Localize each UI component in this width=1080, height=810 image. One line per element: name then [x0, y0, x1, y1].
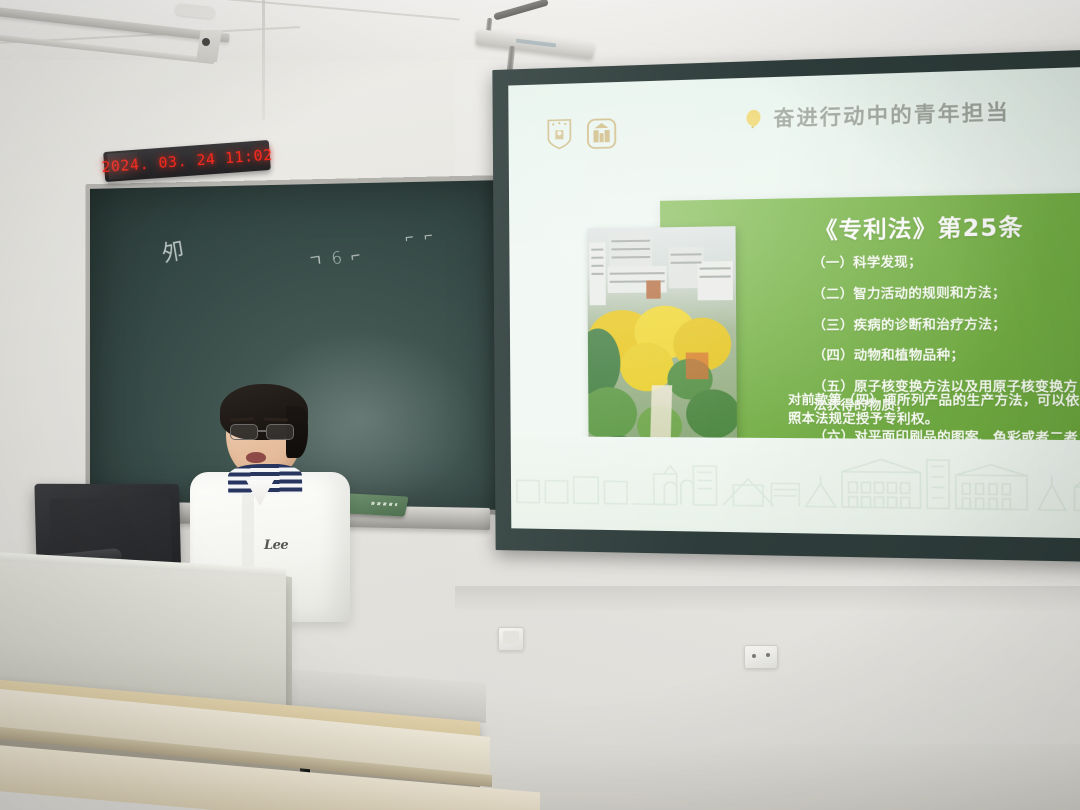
- campus-skyline-watermark: [511, 450, 1080, 524]
- glasses-lens-left: [230, 424, 258, 440]
- list-item: （三）疾病的诊断和治疗方法；: [813, 314, 1080, 334]
- slide-header: 奋进行动中的青年担当: [508, 66, 1080, 193]
- mouth: [246, 452, 266, 463]
- wall-corner-edge: [262, 0, 265, 120]
- presentation-slide: 奋进行动中的青年担当 《专利法》第25条 （一）科学发现； （二）智力活动的规则…: [508, 66, 1080, 538]
- university-shield-logo: [546, 118, 572, 151]
- chalk-mark: 夘: [159, 231, 186, 268]
- wall-shadow: [455, 586, 1080, 612]
- wall-plate: [498, 627, 524, 651]
- list-item: （四）动物和植物品种；: [813, 346, 1080, 365]
- clock-glare: [107, 152, 139, 180]
- projection-screen: 奋进行动中的青年担当 《专利法》第25条 （一）科学发现； （二）智力活动的规则…: [492, 49, 1080, 563]
- slide-panel-title: 《专利法》第25条: [814, 209, 1024, 246]
- board-eraser: [343, 493, 409, 516]
- university-seal-logo: [586, 117, 617, 149]
- wall-power-socket: [744, 645, 778, 669]
- chalk-mark: ⌐ ⌐: [405, 226, 437, 246]
- socket-hole: [752, 654, 756, 658]
- classroom-scene: 夘 ㄱ 6 ⌐ ⌐ ⌐ 2024. 03. 24 11:02: [0, 0, 1080, 810]
- list-item: （一）科学发现；: [812, 250, 1080, 272]
- slide-logos: [546, 117, 617, 151]
- chalk-mark: ㄱ 6 ⌐: [307, 241, 364, 273]
- glasses-bridge: [258, 430, 266, 432]
- glasses-lens-right: [266, 424, 294, 440]
- slide-footer-band: [511, 436, 1080, 539]
- slide-panel-footnote: 对前款第（四）项所列产品的生产方法，可以依照本法规定授予专利权。: [788, 390, 1080, 429]
- jacket-brand-logo: Lee: [264, 538, 288, 553]
- slide-header-title-group: 奋进行动中的青年担当: [742, 95, 1010, 133]
- glasses-icon: [230, 424, 302, 440]
- ginkgo-leaf-icon: [742, 107, 765, 128]
- list-item: （二）智力活动的规则和方法；: [812, 282, 1080, 303]
- socket-hole: [766, 653, 770, 657]
- slide-header-title: 奋进行动中的青年担当: [773, 95, 1010, 132]
